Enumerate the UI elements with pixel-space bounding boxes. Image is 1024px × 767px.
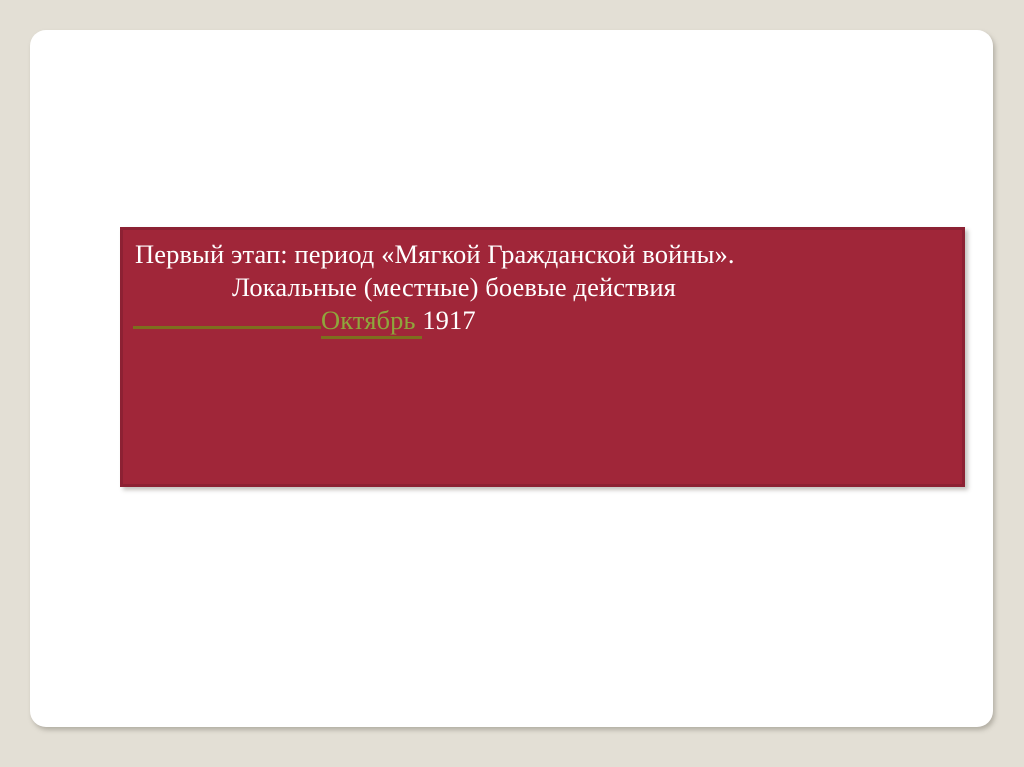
underline-lead-spacer <box>133 325 321 329</box>
year-text: 1917 <box>422 305 475 335</box>
content-text: Первый этап: период «Мягкой Гражданской … <box>133 238 952 337</box>
slide-stage: Первый этап: период «Мягкой Гражданской … <box>0 0 1024 767</box>
content-line-2: Локальные (местные) боевые действия <box>133 271 952 304</box>
content-line-1: Первый этап: период «Мягкой Гражданской … <box>133 238 952 271</box>
accent-month-text: Октябрь <box>321 305 422 339</box>
content-line-3: Октябрь 1917 <box>133 304 952 337</box>
content-block[interactable]: Первый этап: период «Мягкой Гражданской … <box>120 227 965 487</box>
slide-card: Первый этап: период «Мягкой Гражданской … <box>30 30 993 727</box>
